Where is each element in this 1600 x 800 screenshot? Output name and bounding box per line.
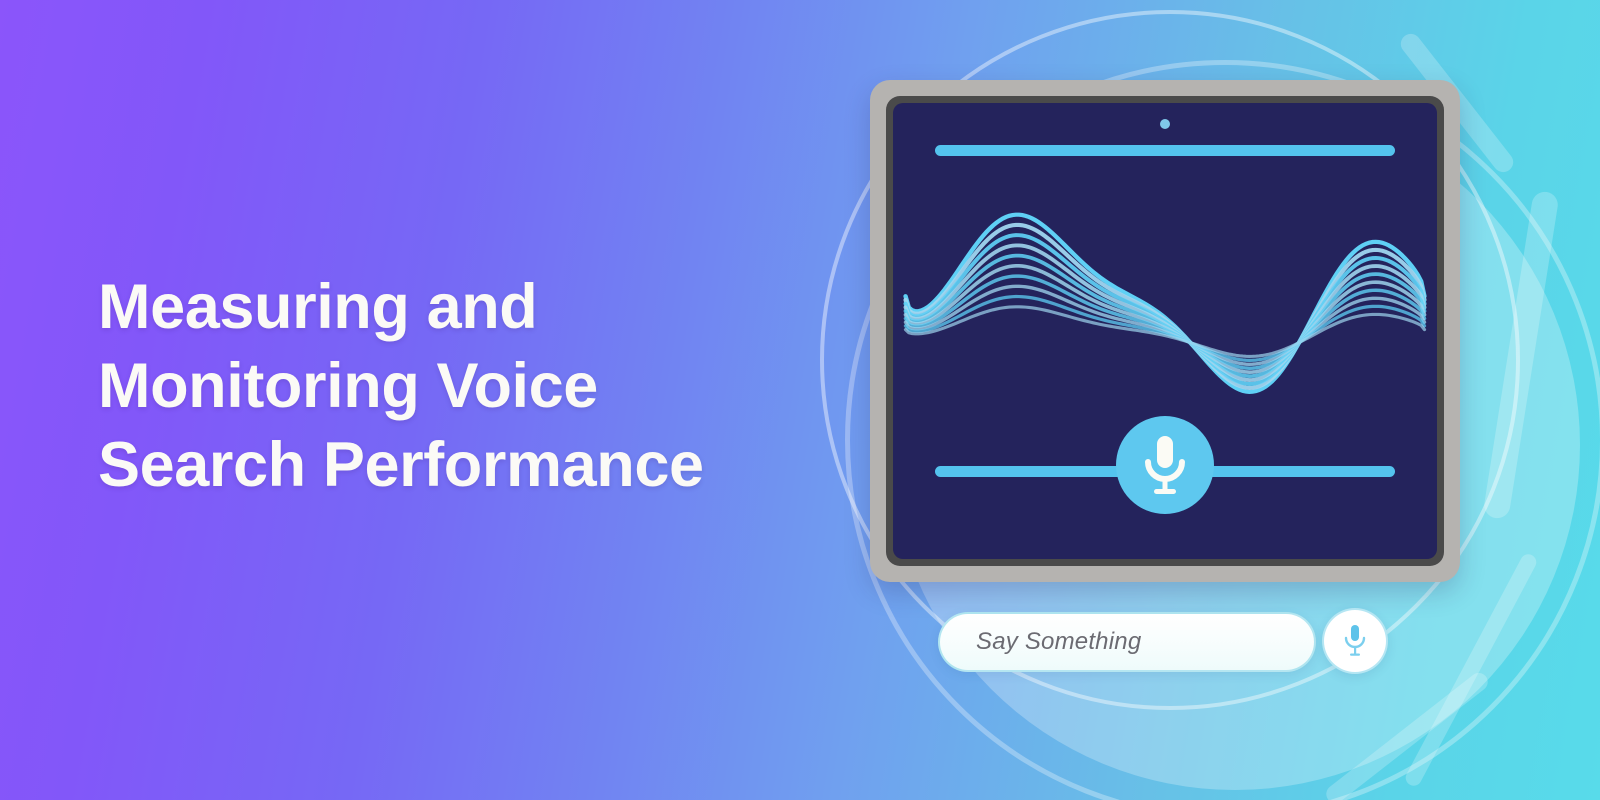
camera-dot-icon — [1160, 119, 1170, 129]
microphone-icon — [1342, 624, 1368, 658]
search-microphone-button[interactable] — [1322, 608, 1388, 674]
decorative-blade-2 — [1403, 551, 1539, 788]
microphone-icon — [1138, 434, 1192, 496]
screen-top-bar — [935, 145, 1395, 156]
tablet-screen — [893, 103, 1437, 559]
search-input[interactable]: Say Something — [938, 612, 1316, 672]
screen-microphone-button[interactable] — [1116, 416, 1214, 514]
decorative-blade-3 — [1323, 669, 1492, 800]
voice-search-banner: Measuring and Monitoring Voice Search Pe… — [0, 0, 1600, 800]
tablet-device — [870, 80, 1460, 582]
page-title: Measuring and Monitoring Voice Search Pe… — [98, 268, 788, 505]
decorative-blade-1 — [1482, 190, 1559, 520]
waveform-svg — [893, 161, 1437, 421]
voice-waveform-chart — [893, 161, 1437, 421]
tablet-bezel — [886, 96, 1444, 566]
search-placeholder-text: Say Something — [940, 628, 1141, 656]
